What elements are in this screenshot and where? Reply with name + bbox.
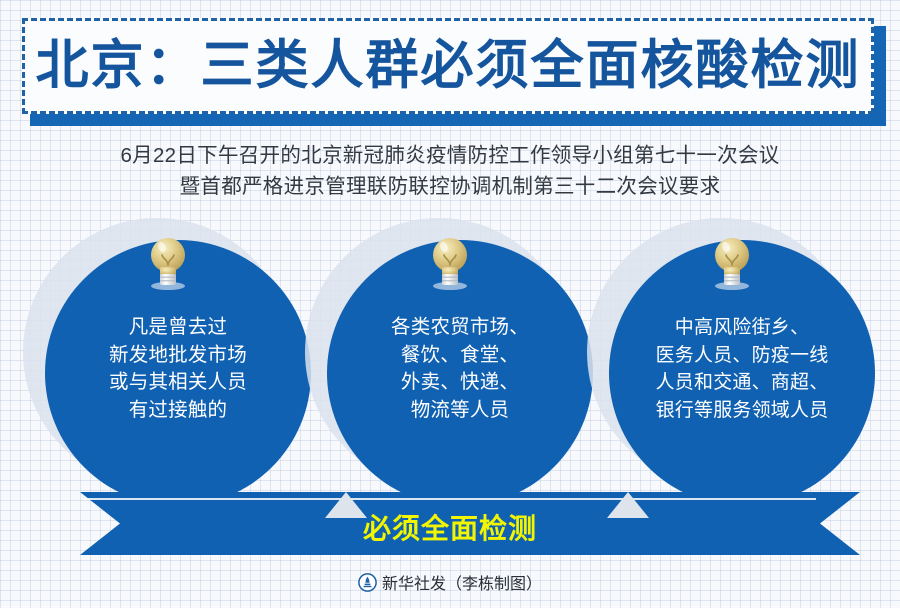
circle-text-line: 中高风险街乡、 [609, 314, 875, 342]
circle-text-line: 新发地批发市场 [45, 342, 311, 370]
circle-card-3: 中高风险街乡、 医务人员、防疫一线 人员和交通、商超、 银行等服务领域人员 [587, 218, 877, 508]
subtitle-line-1: 6月22日下午召开的北京新冠肺炎疫情防控工作领导小组第七十一次会议 [0, 140, 900, 171]
circle-card-1: 凡是曾去过 新发地批发市场 或与其相关人员 有过接触的 [23, 218, 313, 508]
circle-text-line: 凡是曾去过 [45, 314, 311, 342]
circle-text-2: 各类农贸市场、 餐饮、食堂、 外卖、快递、 物流等人员 [327, 314, 593, 424]
lightbulb-icon [145, 234, 191, 296]
header-box: 北京：三类人群必须全面核酸检测 [22, 18, 874, 114]
subtitle-line-2: 暨首都严格进京管理联防联控协调机制第三十二次会议要求 [0, 171, 900, 202]
credit-text: 新华社发（李栋制图） [382, 570, 542, 594]
circle-text-line: 医务人员、防疫一线 [609, 342, 875, 370]
header-banner: 北京：三类人群必须全面核酸检测 [22, 18, 878, 120]
lightbulb-icon [427, 234, 473, 296]
circle-text-line: 人员和交通、商超、 [609, 369, 875, 397]
circle-text-line: 各类农贸市场、 [327, 314, 593, 342]
circle-text-line: 物流等人员 [327, 397, 593, 425]
circle-text-line: 有过接触的 [45, 397, 311, 425]
credit-line: 新华社发（李栋制图） [0, 570, 900, 594]
circle-text-line: 银行等服务领域人员 [609, 397, 875, 425]
circle-text-line: 餐饮、食堂、 [327, 342, 593, 370]
xinhua-logo-icon [358, 573, 377, 592]
ribbon-label: 必须全面检测 [40, 492, 860, 555]
circle-text-line: 或与其相关人员 [45, 369, 311, 397]
subtitle: 6月22日下午召开的北京新冠肺炎疫情防控工作领导小组第七十一次会议 暨首都严格进… [0, 140, 900, 202]
ribbon-banner: 必须全面检测 [40, 492, 860, 555]
circle-text-1: 凡是曾去过 新发地批发市场 或与其相关人员 有过接触的 [45, 314, 311, 424]
lightbulb-icon [709, 234, 755, 296]
circle-text-line: 外卖、快递、 [327, 369, 593, 397]
circle-text-3: 中高风险街乡、 医务人员、防疫一线 人员和交通、商超、 银行等服务领域人员 [609, 314, 875, 424]
circles-group: 凡是曾去过 新发地批发市场 或与其相关人员 有过接触的 [0, 218, 900, 518]
infographic-poster: 北京：三类人群必须全面核酸检测 6月22日下午召开的北京新冠肺炎疫情防控工作领导… [0, 0, 900, 608]
page-title: 北京：三类人群必须全面核酸检测 [36, 40, 861, 93]
circle-card-2: 各类农贸市场、 餐饮、食堂、 外卖、快递、 物流等人员 [305, 218, 595, 508]
